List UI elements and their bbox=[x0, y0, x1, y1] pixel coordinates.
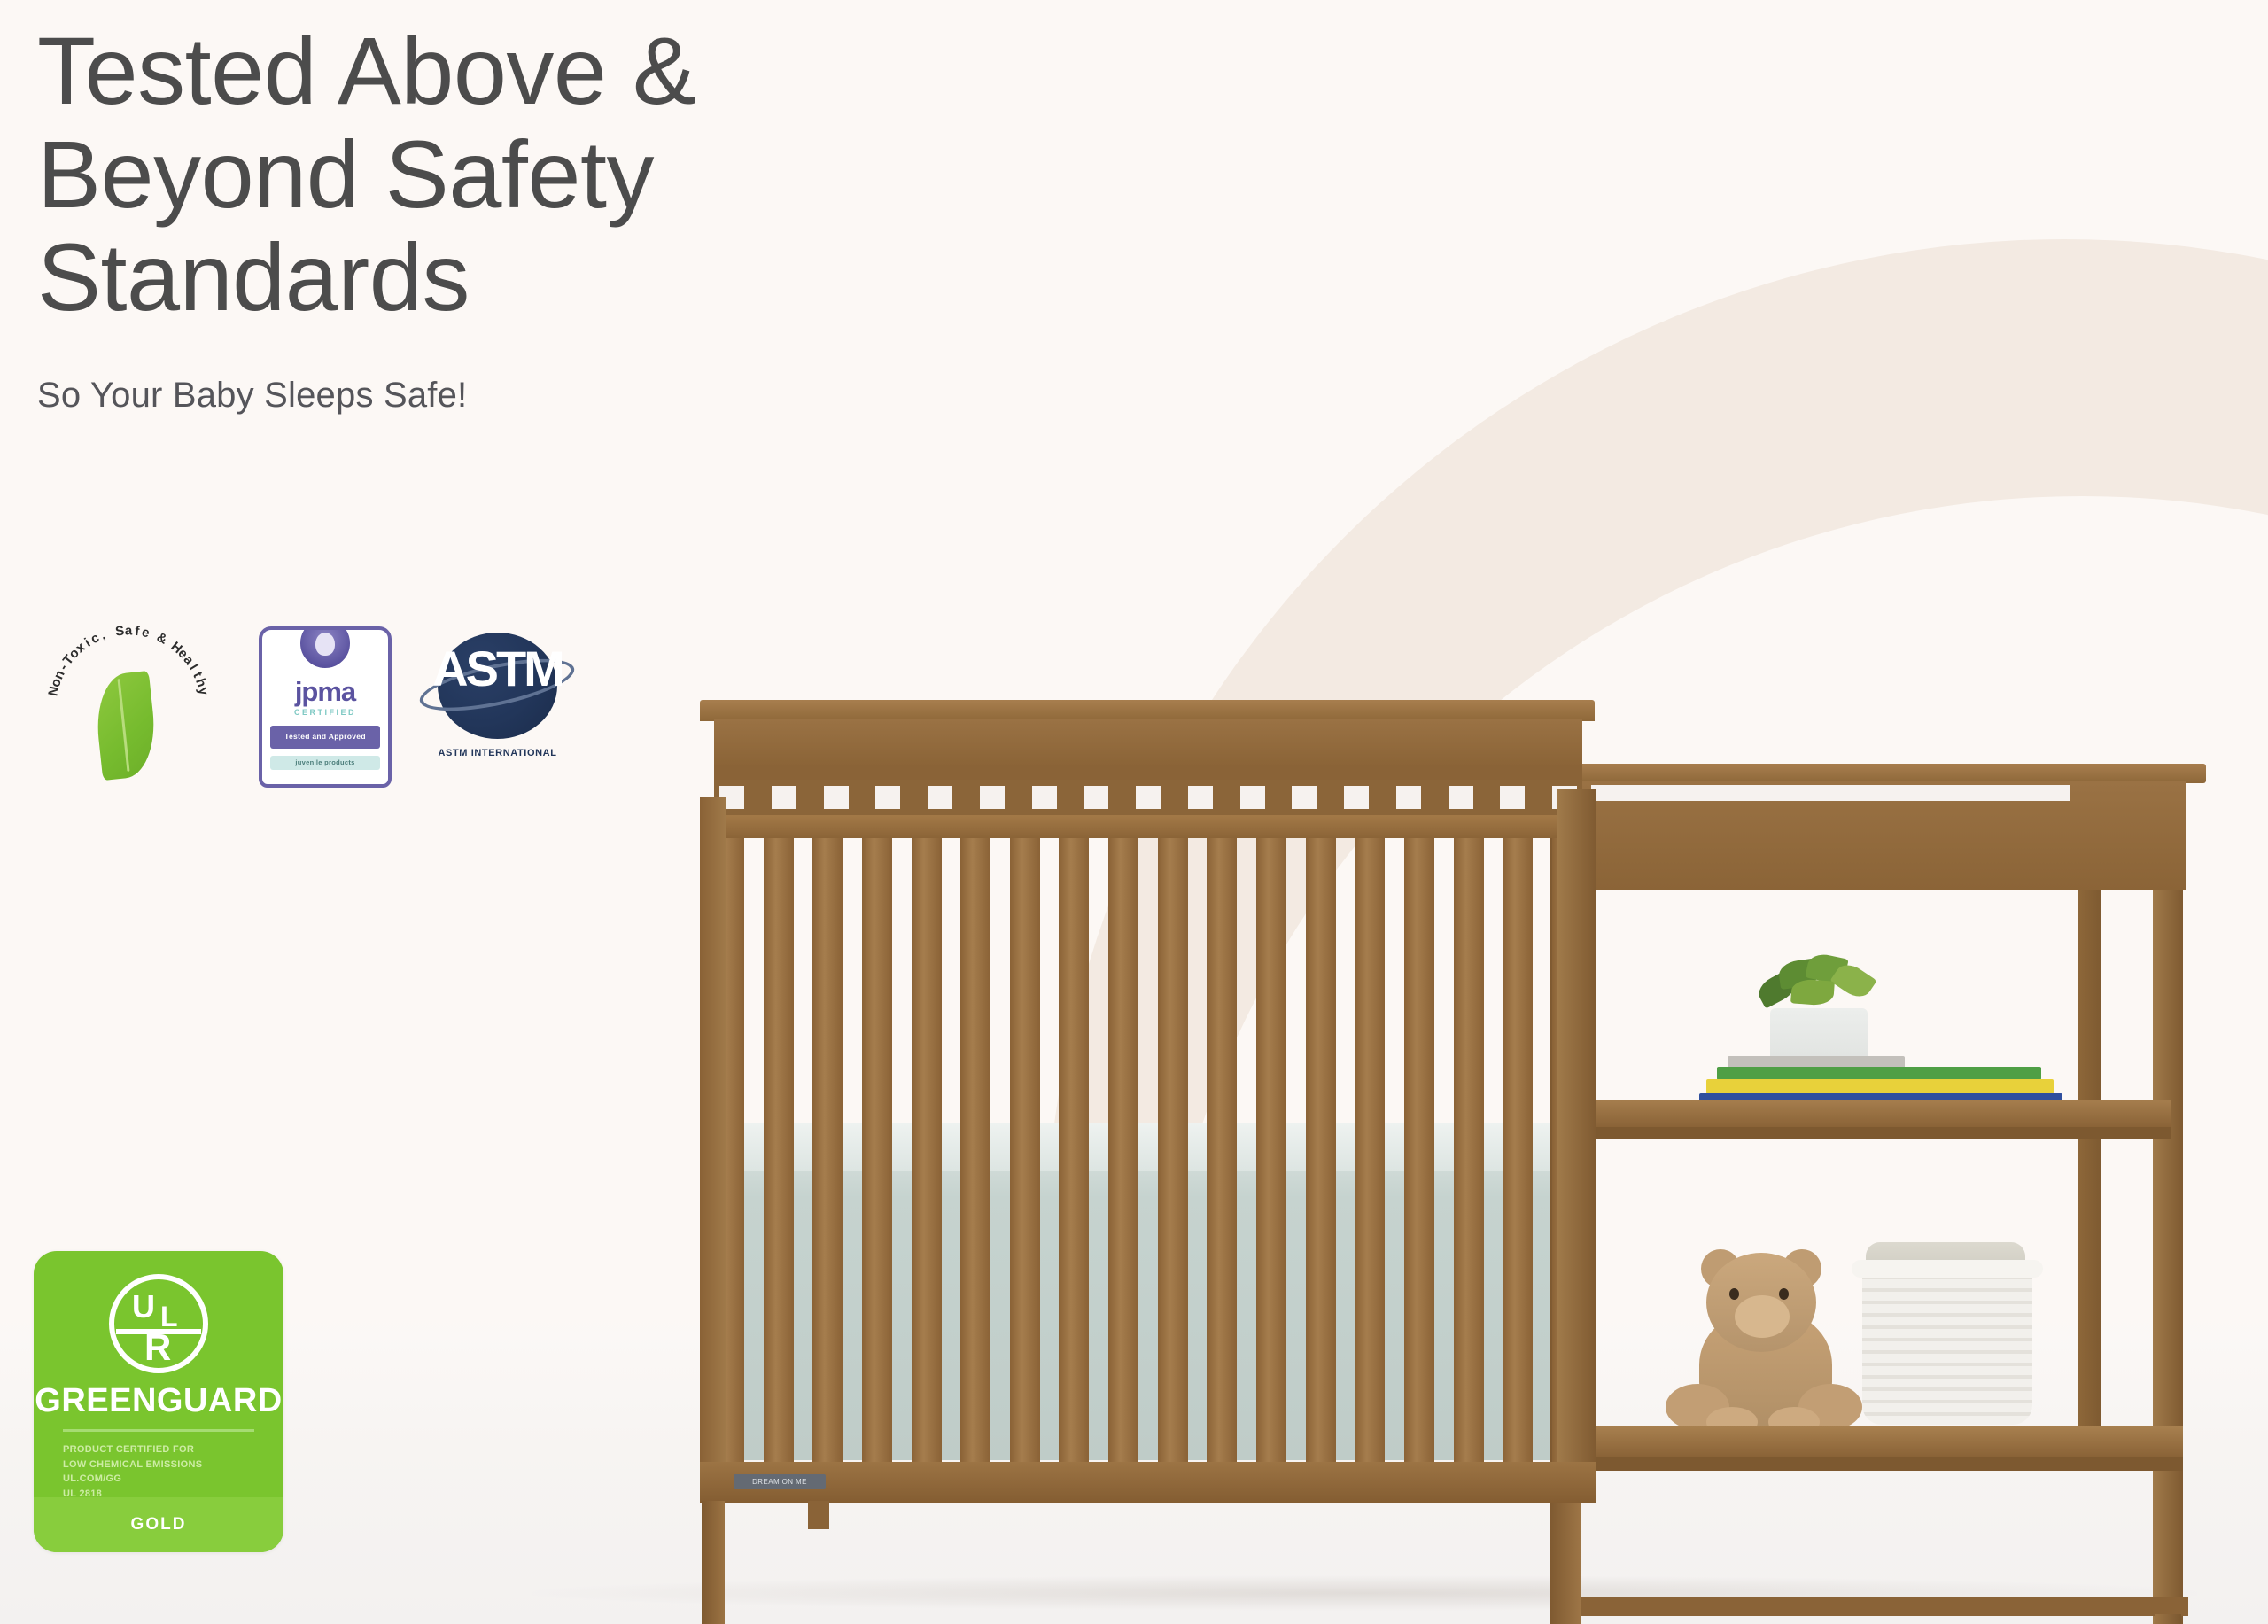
crib-upper-spindle-row bbox=[714, 780, 1582, 815]
crib-middle-rail bbox=[700, 815, 1595, 838]
bear-snout-icon bbox=[1735, 1295, 1790, 1338]
crib-slat bbox=[912, 838, 942, 1469]
greenguard-tier-band: GOLD bbox=[34, 1497, 283, 1552]
changer-leg-right bbox=[2155, 1614, 2181, 1624]
changer-right-post bbox=[2153, 797, 2183, 1624]
crib-slat bbox=[960, 838, 990, 1469]
page-subtitle: So Your Baby Sleeps Safe! bbox=[37, 376, 1056, 416]
greenguard-gold-badge: U L R GREENGUARD PRODUCT CERTIFIED FOR L… bbox=[34, 1251, 283, 1552]
crib-slat-field bbox=[714, 838, 1582, 1469]
bear-eye-left-icon bbox=[1729, 1288, 1739, 1300]
page-title: Tested Above & Beyond Safety Standards bbox=[37, 19, 1056, 330]
ul-registered-mark: R bbox=[144, 1331, 171, 1364]
crib-slat bbox=[764, 838, 794, 1469]
crib-slat bbox=[1158, 838, 1188, 1469]
crib-slat bbox=[1108, 838, 1138, 1469]
crib-right-post bbox=[1557, 789, 1596, 1480]
woven-basket bbox=[1862, 1267, 2032, 1425]
crib-bottom-rail bbox=[700, 1462, 1596, 1503]
changer-top-rail bbox=[1559, 764, 2206, 783]
crib-left-end-panel bbox=[700, 797, 726, 1471]
bear-eye-right-icon bbox=[1779, 1288, 1789, 1300]
crib-slat bbox=[1454, 838, 1484, 1469]
brand-plate: DREAM ON ME bbox=[734, 1474, 826, 1489]
astm-letters: ASTM bbox=[420, 640, 575, 697]
crib-head-panel bbox=[714, 719, 1582, 765]
crib-slat bbox=[1404, 838, 1434, 1469]
changer-upper-shelf bbox=[1568, 1100, 2171, 1127]
crib-leg-left bbox=[702, 1501, 725, 1624]
changer-base-rail bbox=[1559, 1597, 2188, 1616]
jpma-subtitle: CERTIFIED bbox=[262, 708, 388, 717]
certification-badge-row: Non-Toxic, Safe & Healthy jpma CERTIFIED… bbox=[27, 620, 575, 793]
changer-lower-shelf-edge bbox=[1563, 1457, 2183, 1471]
jpma-bar-text: Tested and Approved bbox=[270, 726, 380, 749]
greenguard-divider bbox=[63, 1429, 254, 1432]
greenguard-title: GREENGUARD bbox=[35, 1382, 282, 1420]
jpma-seal-icon bbox=[298, 626, 353, 671]
crib-slat bbox=[1306, 838, 1336, 1469]
astm-caption: ASTM INTERNATIONAL bbox=[420, 748, 575, 758]
changing-table-unit bbox=[1550, 764, 2206, 1624]
crib-secondary-rail bbox=[714, 765, 1582, 780]
crib-slat bbox=[862, 838, 892, 1469]
changer-back-gap bbox=[1591, 785, 2070, 801]
crib-slat bbox=[1010, 838, 1040, 1469]
jpma-wordmark: jpma bbox=[262, 676, 388, 708]
non-toxic-safe-healthy-badge: Non-Toxic, Safe & Healthy bbox=[27, 620, 230, 793]
changer-upper-shelf-edge bbox=[1568, 1127, 2171, 1139]
crib-slat bbox=[812, 838, 843, 1469]
jpma-footer-text: juvenile products bbox=[270, 756, 380, 770]
product-image-crib-and-changer: DREAM ON ME bbox=[496, 700, 2233, 1612]
book-green bbox=[1717, 1067, 2041, 1080]
greenguard-fine-print: PRODUCT CERTIFIED FOR LOW CHEMICAL EMISS… bbox=[59, 1442, 258, 1501]
basket-rim bbox=[1852, 1260, 2043, 1278]
changer-lower-shelf bbox=[1563, 1426, 2183, 1457]
astm-international-badge: ASTM ASTM INTERNATIONAL bbox=[420, 627, 575, 787]
crib-leg-inner bbox=[808, 1501, 829, 1529]
book-yellow bbox=[1706, 1079, 2054, 1094]
crib-slat bbox=[1503, 838, 1533, 1469]
jpma-certified-badge: jpma CERTIFIED Tested and Approved juven… bbox=[259, 626, 392, 788]
crib-cap-rail bbox=[700, 700, 1595, 721]
crib-slat bbox=[1355, 838, 1385, 1469]
crib-slat bbox=[1256, 838, 1286, 1469]
crib-slat bbox=[1059, 838, 1089, 1469]
crib-slat bbox=[1207, 838, 1237, 1469]
changer-mid-post bbox=[2078, 890, 2101, 1439]
succulent-leaves-icon bbox=[1752, 953, 1885, 1015]
ul-letter-u: U bbox=[132, 1288, 155, 1325]
ul-mark-icon: U L R bbox=[109, 1274, 208, 1373]
marketing-copy-block: Tested Above & Beyond Safety Standards S… bbox=[37, 19, 1056, 416]
